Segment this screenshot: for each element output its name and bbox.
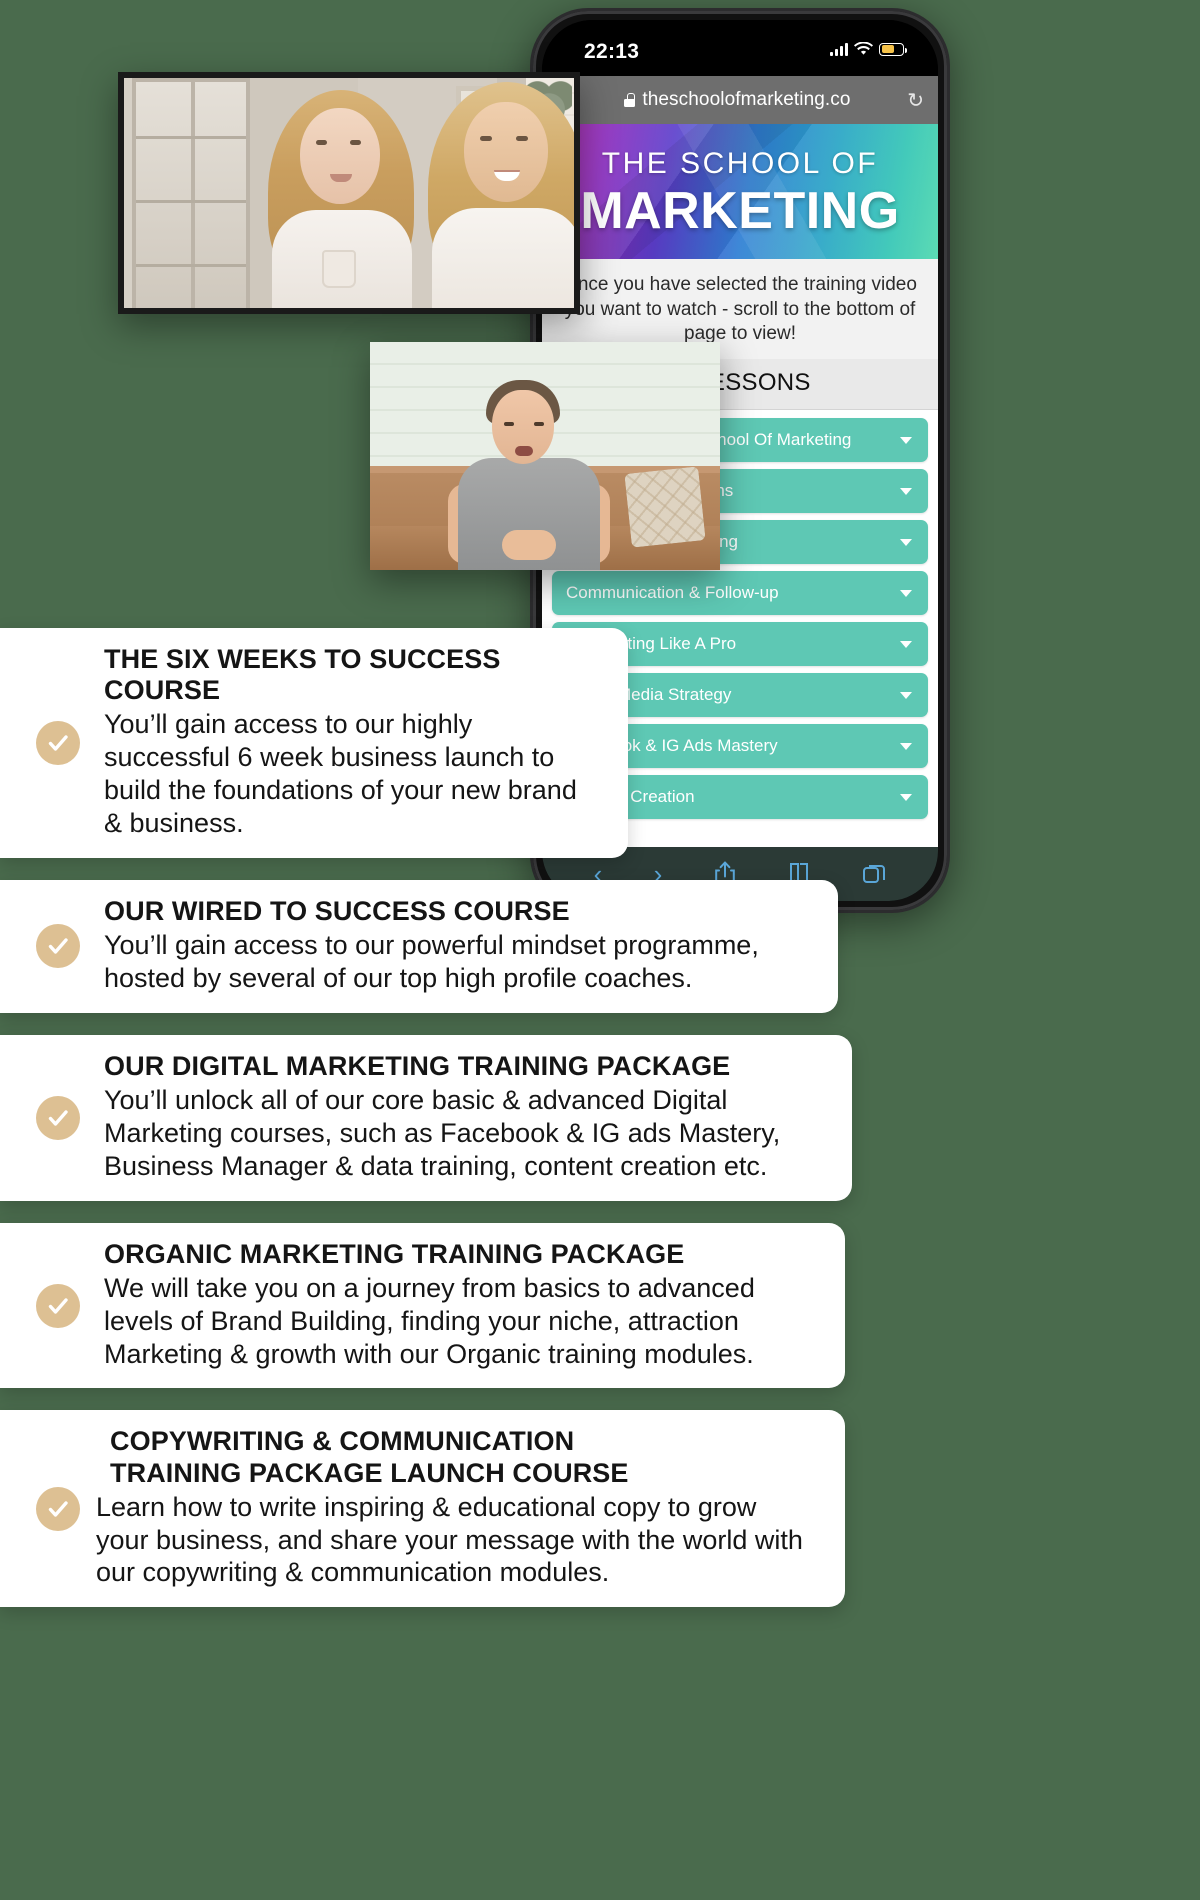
feature-card: OUR WIRED TO SUCCESS COURSE You’ll gain … [0, 880, 838, 1013]
card-body: Learn how to write inspiring & education… [96, 1491, 815, 1590]
feature-card: THE SIX WEEKS TO SUCCESS COURSE You’ll g… [0, 628, 628, 858]
male-presenter-video[interactable] [370, 342, 720, 570]
presenter-left [256, 82, 424, 314]
phone-notch [651, 20, 829, 53]
two-women-presenters-video[interactable] [118, 72, 580, 314]
card-body: You’ll unlock all of our core basic & ad… [104, 1084, 822, 1183]
chevron-down-icon [900, 590, 912, 597]
wifi-icon [854, 42, 873, 56]
feature-card: COPYWRITING & COMMUNICATION TRAINING PAC… [0, 1410, 845, 1607]
address-field[interactable]: theschoolofmarketing.co [578, 89, 898, 111]
card-body: You’ll gain access to our powerful minds… [104, 929, 808, 995]
check-circle-icon [36, 1096, 80, 1140]
card-title: COPYWRITING & COMMUNICATION TRAINING PAC… [96, 1426, 815, 1488]
banner-line-2: MARKETING [580, 185, 899, 237]
cabinet-prop [132, 78, 250, 314]
check-circle-icon [36, 1487, 80, 1531]
chevron-down-icon [900, 539, 912, 546]
chevron-down-icon [900, 437, 912, 444]
reload-icon[interactable]: ↻ [907, 88, 924, 113]
battery-icon [879, 43, 904, 56]
coffee-cup-prop [322, 250, 356, 288]
browser-url-bar[interactable]: A theschoolofmarketing.co ↻ [542, 76, 938, 124]
card-title: OUR DIGITAL MARKETING TRAINING PACKAGE [104, 1051, 822, 1082]
card-body: You’ll gain access to our highly success… [104, 708, 598, 840]
check-circle-icon [36, 721, 80, 765]
pillow-prop [624, 466, 705, 547]
status-bar: 22:13 [542, 20, 938, 76]
feature-card: ORGANIC MARKETING TRAINING PACKAGE We wi… [0, 1223, 845, 1389]
site-banner: THE SCHOOL OF MARKETING [542, 124, 938, 259]
status-indicators [830, 42, 904, 56]
url-text: theschoolofmarketing.co [642, 89, 850, 111]
card-title: OUR WIRED TO SUCCESS COURSE [104, 896, 808, 927]
card-title-line-1: COPYWRITING & COMMUNICATION [110, 1426, 574, 1456]
chevron-down-icon [900, 488, 912, 495]
lock-icon [624, 93, 635, 107]
card-title: THE SIX WEEKS TO SUCCESS COURSE [104, 644, 598, 706]
feature-card: OUR DIGITAL MARKETING TRAINING PACKAGE Y… [0, 1035, 852, 1201]
phone-power-button[interactable] [946, 241, 950, 336]
status-time: 22:13 [584, 40, 639, 64]
presenter-right [414, 78, 580, 314]
banner-line-1: THE SCHOOL OF [602, 147, 878, 181]
card-title-line-2: TRAINING PACKAGE LAUNCH COURSE [110, 1458, 815, 1489]
card-body: We will take you on a journey from basic… [104, 1272, 815, 1371]
feature-card-list: THE SIX WEEKS TO SUCCESS COURSE You’ll g… [0, 628, 1200, 1629]
check-circle-icon [36, 924, 80, 968]
card-title: ORGANIC MARKETING TRAINING PACKAGE [104, 1239, 815, 1270]
cellular-signal-icon [830, 43, 848, 56]
lesson-label: Communication & Follow-up [566, 583, 779, 603]
lesson-row[interactable]: Communication & Follow-up [552, 571, 928, 615]
presenter-man [454, 380, 604, 570]
check-circle-icon [36, 1284, 80, 1328]
